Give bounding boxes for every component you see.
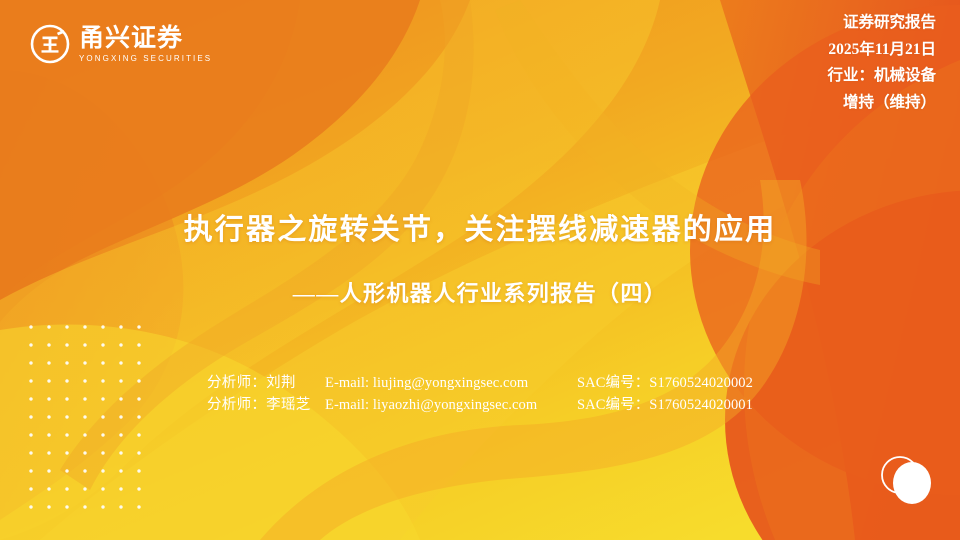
analyst-email-label: E-mail: liyaozhi@yongxingsec.com: [325, 395, 577, 416]
analyst-row: 分析师：刘荆 E-mail: liujing@yongxingsec.com S…: [207, 373, 753, 394]
analyst-sac-label: SAC编号：S1760524020002: [577, 373, 753, 394]
report-cover-slide: 甬兴证券 YONGXING SECURITIES 证券研究报告 2025年11月…: [0, 0, 960, 540]
brand-name-en: YONGXING SECURITIES: [79, 55, 212, 63]
report-meta-block: 证券研究报告 2025年11月21日 行业：机械设备 增持（维持）: [827, 10, 936, 117]
analyst-row: 分析师：李瑶芝 E-mail: liyaozhi@yongxingsec.com…: [207, 395, 753, 416]
yongxing-seal-icon: [30, 24, 70, 64]
analyst-email-label: E-mail: liujing@yongxingsec.com: [325, 373, 577, 394]
brand-name-cn: 甬兴证券: [79, 26, 212, 51]
analyst-name-label: 分析师：李瑶芝: [207, 395, 325, 416]
report-main-title: 执行器之旋转关节，关注摆线减速器的应用: [0, 206, 960, 248]
report-industry-label: 行业：机械设备: [827, 63, 936, 90]
analyst-name-label: 分析师：刘荆: [207, 373, 325, 394]
background-artwork: [0, 0, 960, 540]
brand-logo: 甬兴证券 YONGXING SECURITIES: [30, 24, 212, 64]
analyst-sac-label: SAC编号：S1760524020001: [577, 395, 753, 416]
analyst-list: 分析师：刘荆 E-mail: liujing@yongxingsec.com S…: [0, 373, 960, 416]
report-type-label: 证券研究报告: [827, 10, 936, 37]
report-rating-label: 增持（维持）: [827, 90, 936, 117]
report-subtitle: ——人形机器人行业系列报告（四）: [0, 276, 960, 308]
report-date-label: 2025年11月21日: [827, 37, 936, 64]
brand-logo-text: 甬兴证券 YONGXING SECURITIES: [79, 26, 212, 63]
